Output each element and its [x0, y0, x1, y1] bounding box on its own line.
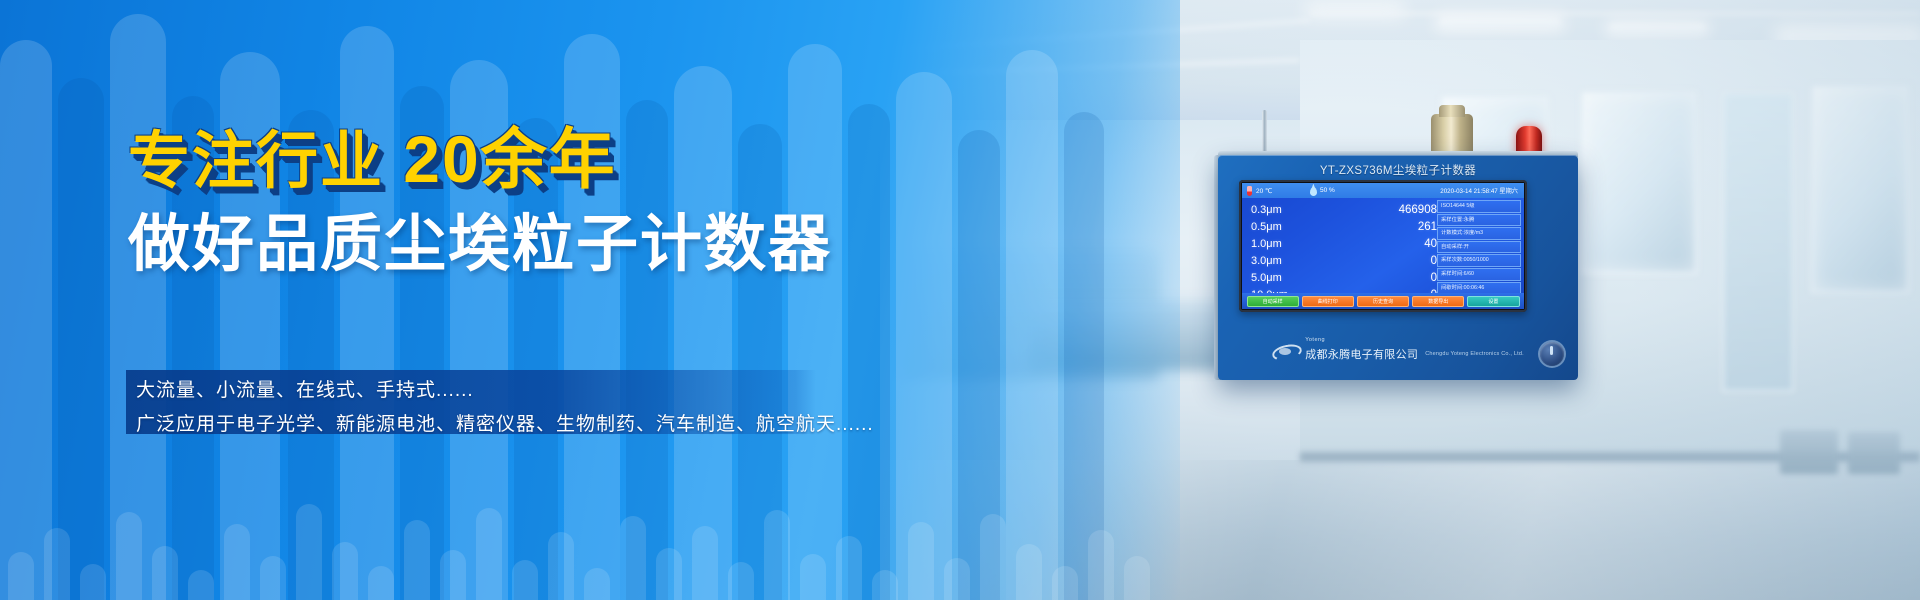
datetime-value: 2020-03-14 21:58:47 星期六 [1440, 186, 1518, 195]
particle-count: 40 [1424, 236, 1437, 253]
power-knob-icon[interactable] [1540, 342, 1564, 366]
particle-row: 0.3μm 466908 [1251, 202, 1437, 219]
particle-count: 466908 [1399, 202, 1437, 219]
temperature-value: 20 ℃ [1256, 187, 1272, 195]
lcd-content: 0.3μm 466908 0.5μm 261 1.0μm 40 3.0μm [1242, 198, 1524, 293]
particle-size: 3.0μm [1251, 253, 1282, 270]
info-row: ISO14644 5级 [1437, 200, 1521, 213]
info-row: 采样时间:6/60 [1437, 268, 1521, 281]
subtitle-line-1: 大流量、小流量、在线式、手持式...... [136, 375, 474, 402]
blue-gradient-panel [0, 0, 1180, 600]
banner-stage: 专注行业 20余年 做好品质尘埃粒子计数器 大流量、小流量、在线式、手持式...… [0, 0, 1920, 600]
water-drop-icon [1310, 187, 1317, 196]
button-auto-sample[interactable]: 自动采样 [1247, 296, 1299, 307]
lcd-status-bar: 20 ℃ 50 % 2020-03-14 21:58:47 星期六 [1242, 183, 1524, 198]
particle-size: 0.5μm [1251, 219, 1282, 236]
brand-name-en: Chengdu Yoteng Electronics Co., Ltd. [1425, 351, 1524, 357]
particle-row: 5.0μm 0 [1251, 270, 1437, 287]
brand-name-cn: 成都永腾电子有限公司 [1305, 349, 1418, 361]
particle-row: 0.5μm 261 [1251, 219, 1437, 236]
lcd-button-bar: 自动采样 曲线打印 历史查询 数据导出 设置 [1242, 293, 1524, 309]
humidity-value: 50 % [1320, 187, 1335, 194]
subtitle-line-2: 广泛应用于电子光学、新能源电池、精密仪器、生物制药、汽车制造、航空航天.....… [136, 409, 874, 436]
particle-count: 261 [1418, 219, 1437, 236]
button-data-export[interactable]: 数据导出 [1412, 296, 1464, 307]
particle-size: 1.0μm [1251, 236, 1282, 253]
brand-en-block: Chengdu Yoteng Electronics Co., Ltd. [1425, 341, 1524, 361]
particle-size: 5.0μm [1251, 270, 1282, 287]
info-row: 采样位置:永腾 [1437, 214, 1521, 227]
headline-secondary: 做好品质尘埃粒子计数器 [128, 214, 832, 276]
info-row: 自动采样:开 [1437, 241, 1521, 254]
headline-primary: 专注行业 20余年 [128, 126, 617, 193]
info-row: 采样次数:0050/1000 [1437, 254, 1521, 267]
brand-mark: Yoteng [1305, 337, 1418, 344]
headline-primary-number: 20余年 [403, 122, 616, 196]
thermometer-icon [1247, 186, 1252, 196]
particle-size: 0.3μm [1251, 202, 1282, 219]
particle-row: 1.0μm 40 [1251, 236, 1437, 253]
particle-counter-device: YT-ZXS736M尘埃粒子计数器 20 ℃ 50 % 2020-03-14 2… [1218, 110, 1578, 380]
yoteng-logo-icon [1272, 343, 1298, 359]
particle-readings-list: 0.3μm 466908 0.5μm 261 1.0μm 40 3.0μm [1251, 202, 1437, 304]
button-curve-print[interactable]: 曲线打印 [1302, 296, 1354, 307]
button-history-query[interactable]: 历史查询 [1357, 296, 1409, 307]
device-model-title: YT-ZXS736M尘埃粒子计数器 [1218, 162, 1578, 178]
button-settings[interactable]: 设置 [1467, 296, 1519, 307]
device-branding: Yoteng 成都永腾电子有限公司 Chengdu Yoteng Electro… [1218, 337, 1578, 364]
particle-row: 3.0μm 0 [1251, 253, 1437, 270]
lcd-screen[interactable]: 20 ℃ 50 % 2020-03-14 21:58:47 星期六 0.3μm … [1242, 183, 1524, 309]
headline-primary-text: 专注行业 [128, 127, 384, 196]
bottom-bar-strip [0, 480, 1180, 600]
lcd-bezel: 20 ℃ 50 % 2020-03-14 21:58:47 星期六 0.3μm … [1239, 180, 1527, 312]
brand-text-block: Yoteng 成都永腾电子有限公司 [1305, 337, 1418, 364]
info-row: 计数模式:浓度/m3 [1437, 227, 1521, 240]
